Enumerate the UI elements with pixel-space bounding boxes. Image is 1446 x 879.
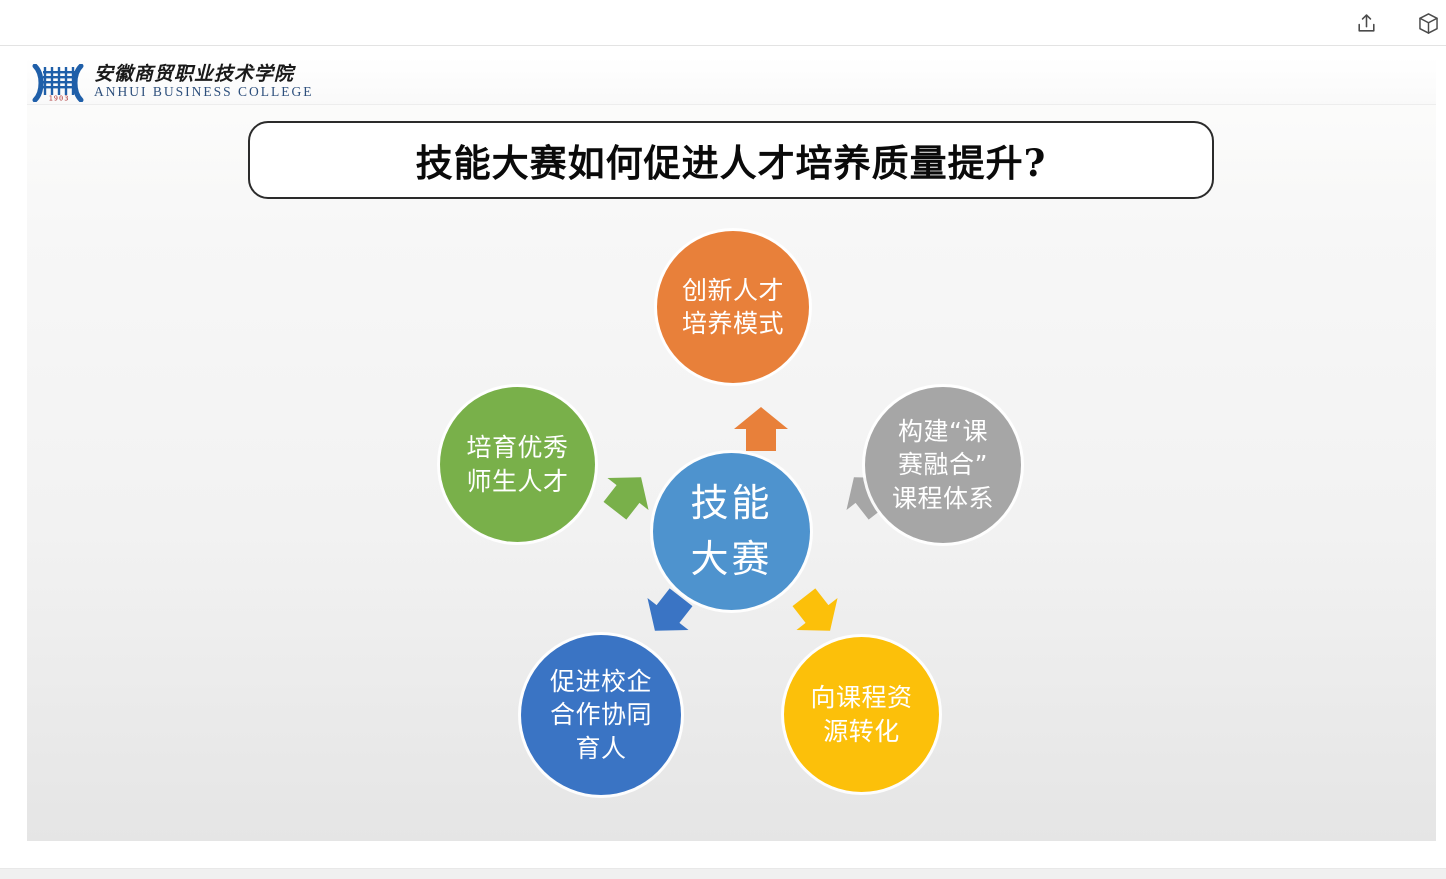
diagram-node-label: 构建“课 赛融合” 课程体系 (886, 415, 1000, 516)
share-icon[interactable] (1352, 9, 1380, 37)
diagram-node-label: 向课程资 源转化 (804, 681, 918, 748)
diagram-node-label: 培育优秀 师生人才 (460, 431, 574, 498)
arrow-up-orange-icon (732, 405, 790, 453)
cube-icon[interactable] (1414, 9, 1442, 37)
hub-and-spoke-diagram: 技能 大赛 创新人才 培养模式 构建“课 赛融合” 课程体系 向课程资 源转化 … (27, 57, 1436, 841)
diagram-center-label: 技能 大赛 (684, 476, 778, 586)
diagram-node-label: 创新人才 培养模式 (676, 274, 790, 341)
diagram-center-node[interactable]: 技能 大赛 (653, 453, 810, 610)
diagram-node-course-resource-transform[interactable]: 向课程资 源转化 (784, 637, 939, 792)
diagram-node-cultivate-talent[interactable]: 培育优秀 师生人才 (440, 387, 595, 542)
diagram-node-label: 促进校企 合作协同 育人 (544, 665, 658, 766)
diagram-node-course-competition-system[interactable]: 构建“课 赛融合” 课程体系 (865, 387, 1021, 543)
app-toolbar (0, 0, 1446, 46)
toolbar-actions (1352, 0, 1446, 46)
diagram-node-innovate-talent-model[interactable]: 创新人才 培养模式 (657, 231, 809, 383)
bottom-status-strip (0, 868, 1446, 879)
slide-canvas[interactable]: 1903 安徽商贸职业技术学院 ANHUI BUSINESS COLLEGE 技… (27, 57, 1436, 841)
diagram-node-school-enterprise-coop[interactable]: 促进校企 合作协同 育人 (521, 635, 681, 795)
